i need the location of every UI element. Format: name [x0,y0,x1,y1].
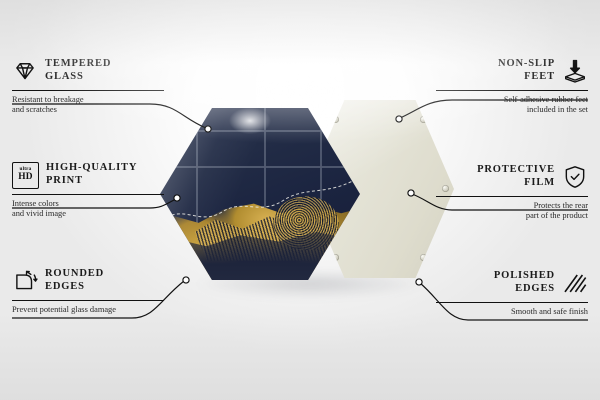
feature-description: Prevent potential glass damage [12,305,164,315]
feature-description: Smooth and safe finish [436,307,588,317]
feature-description: Protects the rearpart of the product [436,201,588,221]
feature-header: ultra HD HIGH-QUALITYPRINT [12,160,164,190]
rubber-foot [420,254,427,261]
feature-polished-edges: POLISHEDEDGES Smooth and safe finish [436,268,588,317]
feature-title: NON-SLIPFEET [498,58,555,83]
diamond-icon [12,58,38,84]
press-down-pad-icon [562,58,588,84]
feature-protective-film: PROTECTIVEFILM Protects the rearpart of … [436,162,588,221]
infographic-stage: TEMPEREDGLASS Resistant to breakageand s… [0,0,600,400]
feature-description: Resistant to breakageand scratches [12,95,164,115]
feature-description: Intense colorsand vivid image [12,199,164,219]
ultra-hd-icon-bottom-label: HD [18,173,32,182]
feature-divider [436,90,588,91]
feature-high-quality-print: ultra HD HIGH-QUALITYPRINT Intense color… [12,160,164,219]
feature-divider [436,302,588,303]
feature-title: ROUNDEDEDGES [45,268,104,293]
feature-rounded-edges: ROUNDEDEDGES Prevent potential glass dam… [12,266,164,315]
feature-header: POLISHEDEDGES [436,268,588,298]
feature-divider [12,300,164,301]
feature-title: HIGH-QUALITYPRINT [46,162,137,187]
feature-divider [12,90,164,91]
rubber-foot [420,116,427,123]
product-floor-shadow [150,272,470,312]
feature-non-slip-feet: NON-SLIPFEET Self-adhesive rubber feetin… [436,56,588,115]
feature-title: TEMPEREDGLASS [45,58,111,83]
feature-header: ROUNDEDEDGES [12,266,164,296]
diagonal-lines-icon [562,270,588,296]
feature-title: POLISHEDEDGES [494,270,555,295]
feature-header: PROTECTIVEFILM [436,162,588,192]
feature-description: Self-adhesive rubber feetincluded in the… [436,95,588,115]
feature-header: TEMPEREDGLASS [12,56,164,86]
rubber-foot [332,116,339,123]
rounded-corner-icon [12,268,38,294]
feature-title: PROTECTIVEFILM [477,164,555,189]
feature-divider [12,194,164,195]
glass-highlight [220,108,280,136]
rubber-foot [332,254,339,261]
feature-header: NON-SLIPFEET [436,56,588,86]
ultra-hd-icon: ultra HD [12,162,39,189]
shield-check-icon [562,164,588,190]
feature-tempered-glass: TEMPEREDGLASS Resistant to breakageand s… [12,56,164,115]
feature-divider [436,196,588,197]
